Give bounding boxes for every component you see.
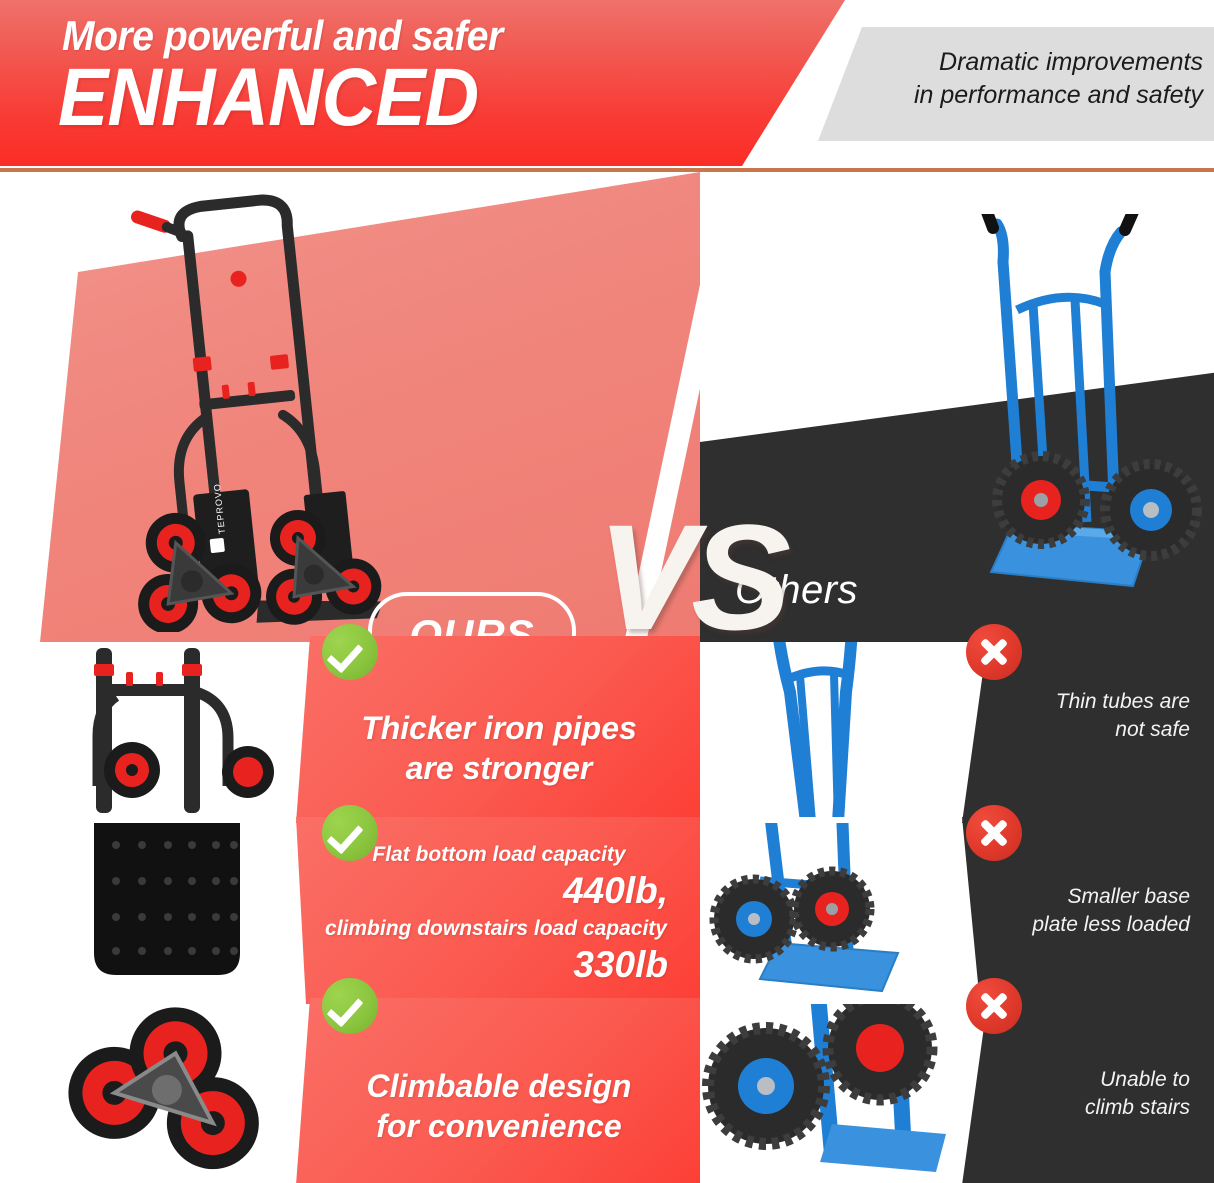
row3-others-text: Unable toclimb stairs bbox=[980, 1066, 1190, 1122]
row1-ours-text: Thicker iron pipesare stronger bbox=[318, 708, 680, 788]
comparison-row: Climbable designfor convenience bbox=[0, 1004, 1214, 1179]
header-banner: More powerful and safer ENHANCED Dramati… bbox=[0, 0, 1214, 172]
comparison-row: Flat bottom load capacity 440lb, climbin… bbox=[0, 823, 1214, 998]
others-frame-tubes-illustration bbox=[700, 642, 962, 817]
cross-circle-icon bbox=[966, 805, 1022, 861]
row3-ours-photo bbox=[38, 1004, 296, 1183]
vs-label: VS bbox=[597, 502, 785, 652]
row3-ours-text: Climbable designfor convenience bbox=[318, 1066, 680, 1146]
others-base-plate-illustration bbox=[700, 823, 962, 998]
ours-frame-tubes-illustration bbox=[38, 642, 296, 817]
row2-others-text: Smaller baseplate less loaded bbox=[964, 883, 1190, 939]
row2-capacity-label-2: climbing downstairs load capacity bbox=[306, 915, 686, 943]
ours-product-illustration: TEPROVO bbox=[88, 182, 418, 632]
cross-circle-icon bbox=[966, 624, 1022, 680]
comparison-row: Thicker iron pipesare stronger Thin tube… bbox=[0, 642, 1214, 817]
cross-circle-icon bbox=[966, 978, 1022, 1034]
ours-base-plate-illustration bbox=[38, 823, 296, 998]
row2-capacity-label-1: Flat bottom load capacity bbox=[318, 841, 680, 869]
row2-others-photo bbox=[700, 823, 962, 998]
row2-capacity-value-1: 440lb, bbox=[318, 869, 668, 913]
ours-tristar-wheels-illustration bbox=[38, 1004, 296, 1183]
comparison-rows: Thicker iron pipesare stronger Thin tube… bbox=[0, 642, 1214, 1183]
row1-ours-photo bbox=[38, 642, 296, 817]
row1-others-text: Thin tubes arenot safe bbox=[980, 688, 1190, 744]
row3-others-photo bbox=[700, 1004, 962, 1183]
others-product-illustration bbox=[955, 214, 1214, 614]
header-title: ENHANCED bbox=[58, 52, 478, 144]
row2-capacity-value-2: 330lb bbox=[318, 943, 668, 987]
main-content: TEPROVO bbox=[0, 172, 1214, 1183]
ours-hero-panel: TEPROVO bbox=[0, 172, 700, 642]
check-circle-icon bbox=[322, 624, 378, 680]
check-circle-icon bbox=[322, 978, 378, 1034]
ours-badge: OURS bbox=[368, 592, 576, 642]
others-wheels-illustration bbox=[700, 1004, 962, 1183]
row1-others-photo bbox=[700, 642, 962, 817]
header-subtitle: Dramatic improvementsin performance and … bbox=[845, 46, 1203, 112]
infographic-page: More powerful and safer ENHANCED Dramati… bbox=[0, 0, 1214, 1183]
row2-ours-photo bbox=[38, 823, 296, 998]
